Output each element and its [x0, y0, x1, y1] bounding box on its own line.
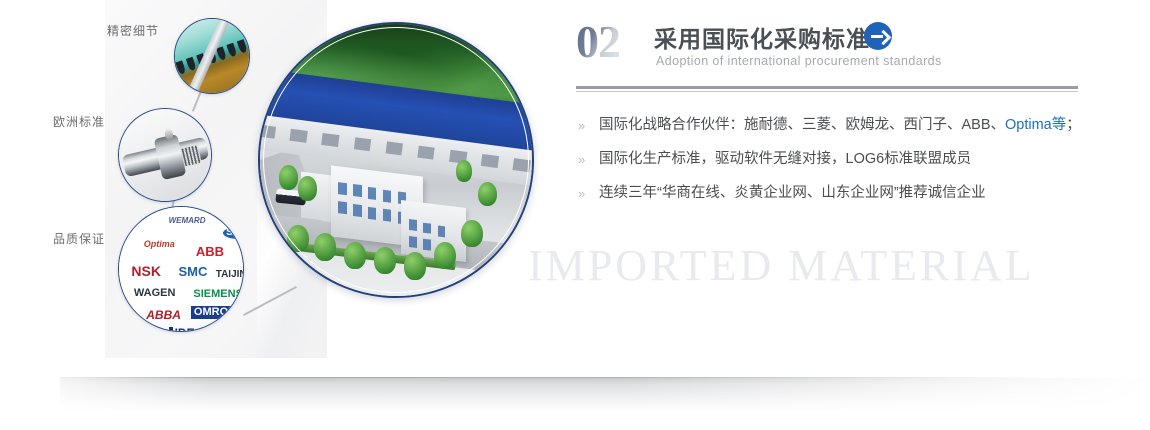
brand-logo: WEMARD [169, 217, 206, 225]
chevron-right-icon: » [578, 183, 585, 204]
bullet-text: 连续三年“华商在线、炎黄企业网、山东企业网”推荐诚信企业 [599, 185, 986, 201]
chevron-right-icon: » [578, 115, 585, 136]
brand-logo: NSK [131, 264, 161, 278]
bullet-item: »国际化生产标准，驱动软件无缝对接，LOG6标准联盟成员 [576, 149, 1086, 170]
label-european-standard: 欧洲标准 [53, 113, 105, 130]
bullet-text: 国际化生产标准，驱动软件无缝对接，LOG6标准联盟成员 [599, 151, 971, 167]
brand-logo: SIKO [223, 227, 244, 239]
bullet-text-tail: ； [1066, 117, 1081, 133]
content-column: 02 采用国际化采购标准 Adoption of international p… [576, 18, 1086, 217]
section-title-cn: 采用国际化采购标准 [654, 20, 870, 54]
brand-logo: Optima [144, 240, 175, 249]
brand-logo: WAGEN [134, 288, 176, 299]
brand-logos-collage: WEMARDSIKOOptimaABBNSKSMCTAIJINGWAGENSIE… [118, 206, 244, 332]
floor-reflection-band [60, 378, 1150, 412]
bullet-text: 国际化战略合作伙伴：施耐德、三菱、欧姆龙、西门子、ABB、 [599, 117, 1005, 133]
header-divider [576, 86, 1078, 92]
arrow-right-icon[interactable] [864, 22, 892, 50]
section-header: 02 采用国际化采购标准 Adoption of international p… [576, 18, 1086, 82]
section-number: 02 [576, 18, 620, 66]
factory-photo-image [260, 24, 532, 296]
label-quality-assurance: 品质保证 [53, 230, 105, 247]
section-title-en: Adoption of international procurement st… [656, 54, 942, 68]
bullet-item: »国际化战略合作伙伴：施耐德、三菱、欧姆龙、西门子、ABB、Optima等； [576, 115, 1086, 136]
bullet-list: »国际化战略合作伙伴：施耐德、三菱、欧姆龙、西门子、ABB、Optima等；»国… [576, 115, 1086, 204]
brand-logo: TAIJING [216, 270, 244, 280]
brand-logo: ABBA [146, 309, 181, 321]
gear-detail-photo [174, 18, 250, 94]
factory-building-photo [258, 22, 534, 298]
chevron-right-icon: » [578, 149, 585, 170]
brand-logo: SIEMENS [193, 289, 243, 300]
ball-screw-photo [118, 108, 212, 202]
bullet-highlight: Optima等 [1005, 117, 1066, 133]
brand-logo: OMRON [191, 306, 239, 319]
brand-logo: ABB [196, 245, 224, 258]
page-root: 精密细节 欧洲标准 品质保证 WEMARDSIKOOptimaABBNSKSMC… [0, 0, 1150, 430]
bullet-item: »连续三年“华商在线、炎黄企业网、山东企业网”推荐诚信企业 [576, 183, 1086, 204]
brand-logo: SMC [179, 265, 208, 278]
watermark-text: IMPORTED MATERIAL [528, 240, 1128, 291]
label-precision-detail: 精密细节 [107, 22, 159, 39]
